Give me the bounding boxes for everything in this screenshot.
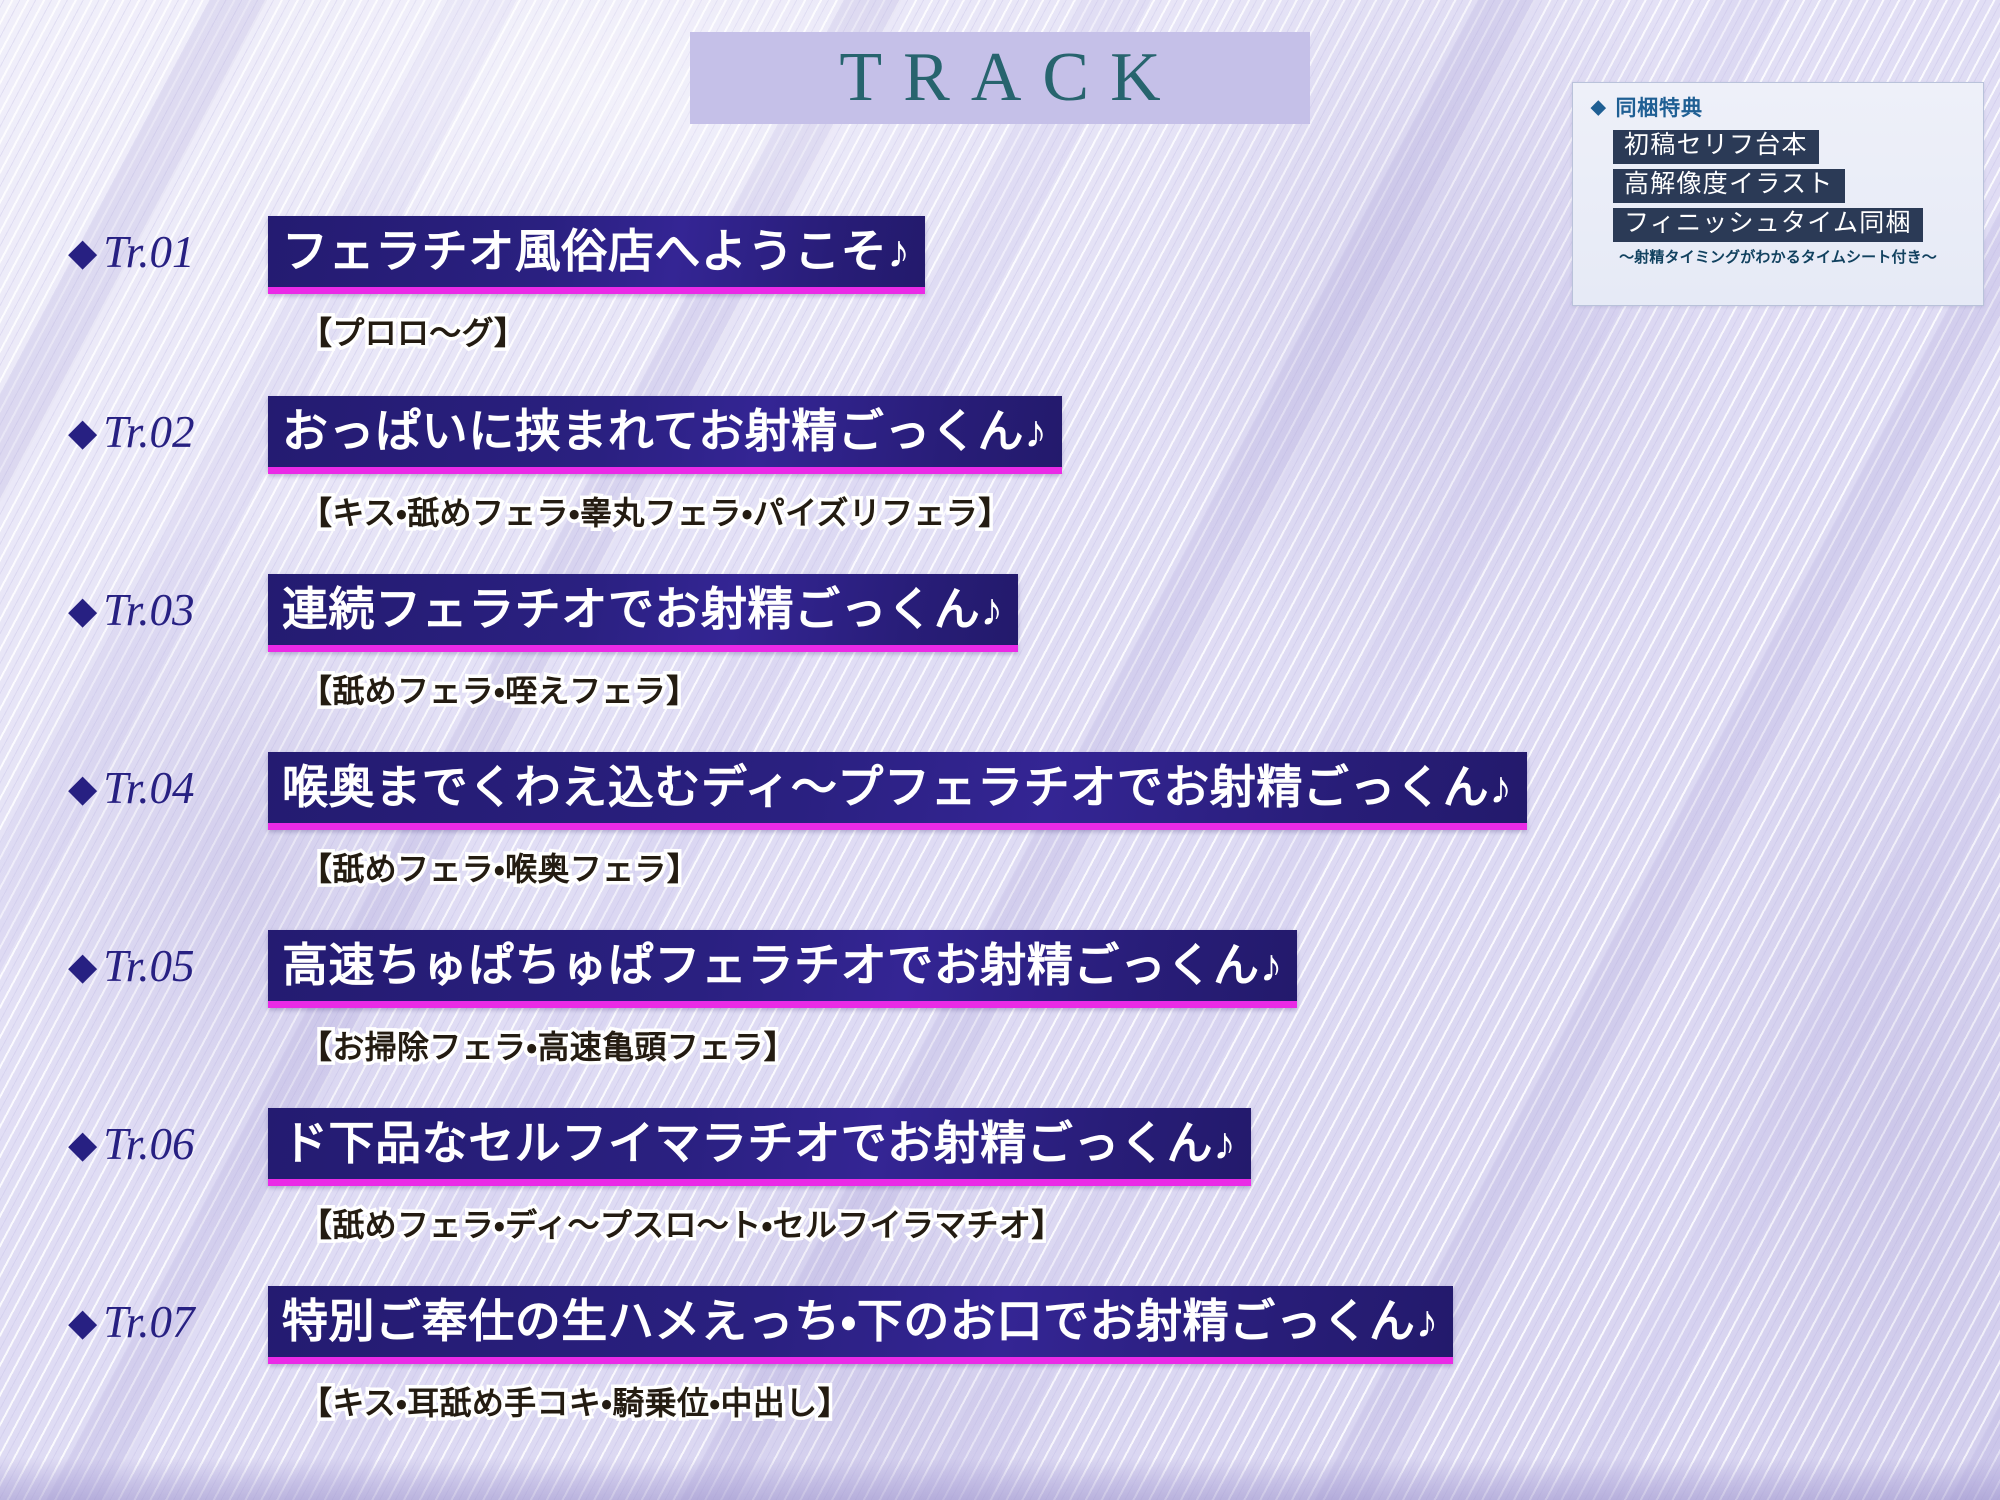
track-number-05: ◆ Tr.05: [68, 944, 195, 989]
diamond-icon: ◆: [1591, 98, 1606, 117]
page-title-band: TRACK: [690, 32, 1310, 124]
track-tags-01: 【プロロ～グ】: [300, 308, 526, 354]
bonus-heading-row: ◆ 同梱特典: [1573, 83, 1983, 125]
diamond-icon: ◆: [68, 234, 97, 272]
bonus-item-1: 初稿セリフ台本: [1613, 130, 1819, 164]
track-number-01: ◆ Tr.01: [68, 230, 195, 275]
diamond-icon: ◆: [68, 414, 97, 452]
track-tags-04: 【舐めフェラ・喉奥フェラ】: [300, 844, 699, 890]
diamond-icon: ◆: [68, 770, 97, 808]
bonus-item-list: 初稿セリフ台本 高解像度イラスト フィニッシュタイム同梱: [1573, 125, 1983, 242]
track-title-06: ド下品なセルフイマラチオでお射精ごっくん♪: [268, 1108, 1251, 1186]
track-title-04: 喉奥までくわえ込むディ～プフェラチオでお射精ごっくん♪: [268, 752, 1527, 830]
track-tags-06: 【舐めフェラ・ディ～プスロ～ト・セルフイラマチオ】: [300, 1200, 1064, 1246]
bonus-item-2: 高解像度イラスト: [1613, 169, 1845, 203]
background-bottom-shade: [0, 1458, 2000, 1500]
track-number-label: Tr.02: [103, 410, 194, 455]
track-list-page: TRACK ◆ 同梱特典 初稿セリフ台本 高解像度イラスト フィニッシュタイム同…: [0, 0, 2000, 1500]
track-tags-03: 【舐めフェラ・咥えフェラ】: [300, 666, 698, 712]
diamond-icon: ◆: [68, 1126, 97, 1164]
track-title-03: 連続フェラチオでお射精ごっくん♪: [268, 574, 1018, 652]
track-number-label: Tr.06: [103, 1122, 194, 1167]
track-number-04: ◆ Tr.04: [68, 766, 195, 811]
bonus-item-3: フィニッシュタイム同梱: [1613, 208, 1923, 242]
diamond-icon: ◆: [68, 948, 97, 986]
page-title: TRACK: [818, 43, 1181, 113]
track-number-07: ◆ Tr.07: [68, 1300, 195, 1345]
track-number-02: ◆ Tr.02: [68, 410, 195, 455]
diamond-icon: ◆: [68, 592, 97, 630]
track-tags-05: 【お掃除フェラ・高速亀頭フェラ】: [300, 1022, 796, 1068]
diamond-icon: ◆: [68, 1304, 97, 1342]
bonus-note: ～射精タイミングがわかるタイムシート付き～: [1573, 246, 1983, 267]
track-title-07: 特別ご奉仕の生ハメえっち・下のお口でお射精ごっくん♪: [268, 1286, 1453, 1364]
bonus-panel: ◆ 同梱特典 初稿セリフ台本 高解像度イラスト フィニッシュタイム同梱 ～射精タ…: [1572, 82, 1984, 306]
track-title-05: 高速ちゅぱちゅぱフェラチオでお射精ごっくん♪: [268, 930, 1297, 1008]
track-number-06: ◆ Tr.06: [68, 1122, 195, 1167]
track-number-label: Tr.04: [103, 766, 194, 811]
track-number-label: Tr.01: [103, 230, 194, 275]
track-number-label: Tr.07: [103, 1300, 194, 1345]
track-tags-02: 【キス・舐めフェラ・睾丸フェラ・パイズリフェラ】: [300, 488, 1010, 534]
track-number-label: Tr.05: [103, 944, 194, 989]
bonus-heading-label: 同梱特典: [1615, 92, 1702, 122]
track-tags-07: 【キス・耳舐め手コキ・騎乗位・中出し】: [300, 1378, 850, 1424]
track-title-02: おっぱいに挟まれてお射精ごっくん♪: [268, 396, 1062, 474]
track-number-label: Tr.03: [103, 588, 194, 633]
track-title-01: フェラチオ風俗店へようこそ♪: [268, 216, 925, 294]
track-number-03: ◆ Tr.03: [68, 588, 195, 633]
